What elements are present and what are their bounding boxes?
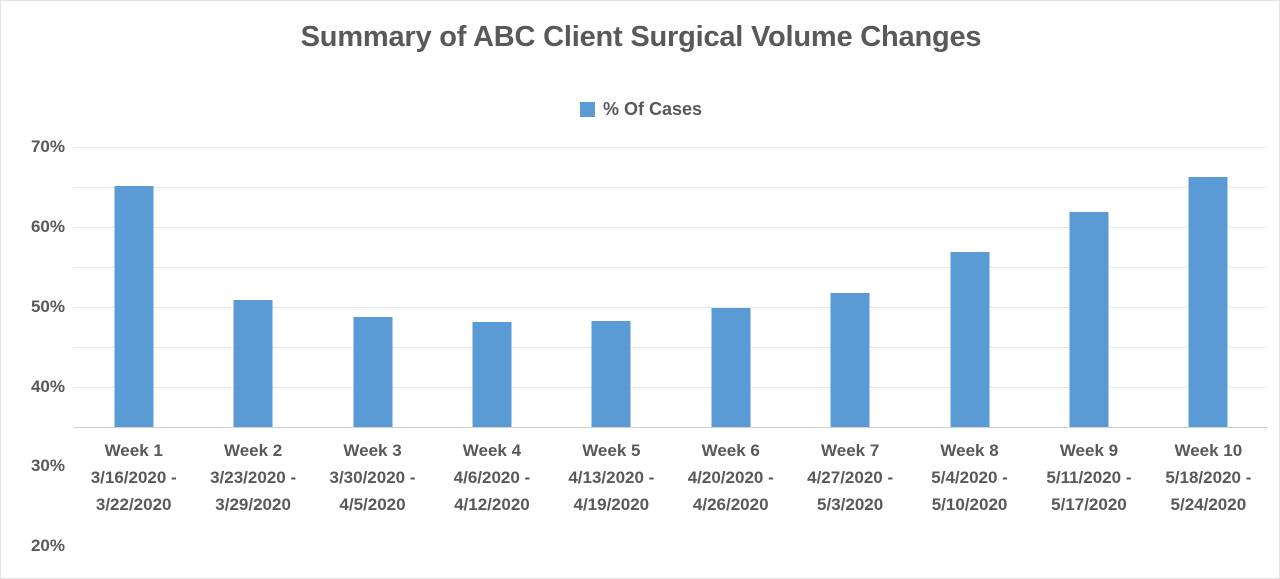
x-axis-category-label: Week 95/11/2020 -5/17/2020 [1029, 437, 1148, 518]
x-axis-label-line: Week 6 [671, 437, 790, 464]
x-axis-label-line: Week 1 [74, 437, 193, 464]
chart-legend: % Of Cases [1, 99, 1280, 120]
axis-baseline: 0% [74, 427, 1268, 428]
x-axis-category-label: Week 44/6/2020 -4/12/2020 [432, 437, 551, 518]
x-axis-label-line: 5/17/2020 [1029, 491, 1148, 518]
bar[interactable] [472, 322, 511, 426]
bar-slot [193, 147, 312, 427]
y-axis-tick-label: 40% [31, 377, 65, 397]
bar-slot [313, 147, 432, 427]
x-axis-label-line: Week 7 [790, 437, 909, 464]
x-axis-label-line: 5/24/2020 [1149, 491, 1268, 518]
x-axis-label-line: 4/13/2020 - [552, 464, 671, 491]
x-axis-label-line: 4/19/2020 [552, 491, 671, 518]
x-axis-label-line: 4/26/2020 [671, 491, 790, 518]
x-axis-label-line: 5/4/2020 - [910, 464, 1029, 491]
y-axis-tick-label: 60% [31, 217, 65, 237]
chart-title: Summary of ABC Client Surgical Volume Ch… [1, 21, 1280, 54]
bar-slot [910, 147, 1029, 427]
bar[interactable] [114, 186, 153, 426]
x-axis-label-line: Week 10 [1149, 437, 1268, 464]
x-axis-label-line: 3/16/2020 - [74, 464, 193, 491]
x-axis-label-line: 4/12/2020 [432, 491, 551, 518]
bar[interactable] [831, 293, 870, 426]
x-axis-category-label: Week 54/13/2020 -4/19/2020 [552, 437, 671, 518]
x-axis-labels: Week 13/16/2020 -3/22/2020Week 23/23/202… [74, 437, 1268, 518]
x-axis-label-line: 3/30/2020 - [313, 464, 432, 491]
x-axis-category-label: Week 105/18/2020 -5/24/2020 [1149, 437, 1268, 518]
x-axis-category-label: Week 74/27/2020 -5/3/2020 [790, 437, 909, 518]
bar-slot [1149, 147, 1268, 427]
bar[interactable] [234, 300, 273, 427]
x-axis-label-line: 5/11/2020 - [1029, 464, 1148, 491]
x-axis-label-line: Week 3 [313, 437, 432, 464]
x-axis-label-line: Week 4 [432, 437, 551, 464]
bar[interactable] [1189, 177, 1228, 427]
bar[interactable] [950, 252, 989, 426]
bar[interactable] [711, 308, 750, 427]
bar-slot [671, 147, 790, 427]
x-axis-category-label: Week 64/20/2020 -4/26/2020 [671, 437, 790, 518]
x-axis-label-line: Week 5 [552, 437, 671, 464]
bar-slot [1029, 147, 1148, 427]
y-axis-tick-label: 20% [31, 536, 65, 556]
bar-slot [790, 147, 909, 427]
x-axis-label-line: 3/22/2020 [74, 491, 193, 518]
x-axis-category-label: Week 23/23/2020 -3/29/2020 [193, 437, 312, 518]
y-axis-tick-label: 30% [31, 456, 65, 476]
legend-swatch-icon [580, 102, 595, 117]
chart-container: Summary of ABC Client Surgical Volume Ch… [0, 0, 1280, 579]
x-axis-label-line: 5/3/2020 [790, 491, 909, 518]
x-axis-label-line: 3/23/2020 - [193, 464, 312, 491]
legend-label: % Of Cases [603, 99, 702, 120]
x-axis-label-line: 5/18/2020 - [1149, 464, 1268, 491]
x-axis-label-line: 5/10/2020 [910, 491, 1029, 518]
x-axis-label-line: Week 9 [1029, 437, 1148, 464]
x-axis-label-line: 4/5/2020 [313, 491, 432, 518]
bar-slot [74, 147, 193, 427]
y-axis-tick-label: 50% [31, 297, 65, 317]
y-axis-tick-label: 70% [31, 137, 65, 157]
bar[interactable] [592, 321, 631, 426]
x-axis-category-label: Week 13/16/2020 -3/22/2020 [74, 437, 193, 518]
x-axis-label-line: 3/29/2020 [193, 491, 312, 518]
x-axis-label-line: 4/27/2020 - [790, 464, 909, 491]
bar[interactable] [353, 317, 392, 426]
x-axis-category-label: Week 33/30/2020 -4/5/2020 [313, 437, 432, 518]
x-axis-label-line: Week 2 [193, 437, 312, 464]
bar[interactable] [1069, 212, 1108, 426]
x-axis-label-line: Week 8 [910, 437, 1029, 464]
bars-group [74, 147, 1268, 427]
x-axis-label-line: 4/6/2020 - [432, 464, 551, 491]
bar-slot [432, 147, 551, 427]
x-axis-label-line: 4/20/2020 - [671, 464, 790, 491]
x-axis-category-label: Week 85/4/2020 -5/10/2020 [910, 437, 1029, 518]
bar-slot [552, 147, 671, 427]
plot-area: 70%60%50%40%30%20%10%0% [74, 147, 1268, 427]
